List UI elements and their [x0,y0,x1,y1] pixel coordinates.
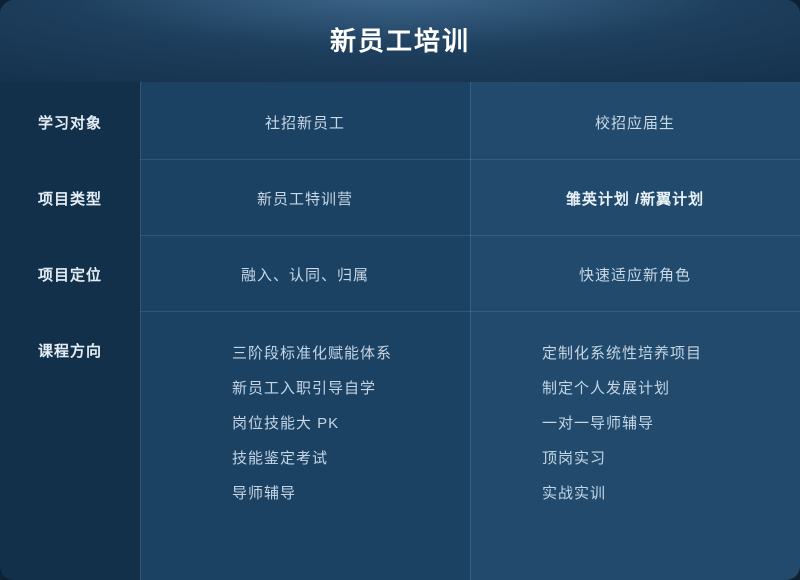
cell-positioning-social: 融入、认同、归属 [140,264,470,285]
training-overview-card: 新员工培训 学习对象 项目类型 项目定位 课程方向 社招新员工 新员工特训营 融… [0,0,800,580]
list-item: 技能鉴定考试 [232,441,392,476]
list-item: 定制化系统性培养项目 [542,336,702,371]
list-item: 岗位技能大 PK [232,406,392,441]
row-divider-3 [140,311,800,312]
page-title: 新员工培训 [0,0,800,82]
comparison-table: 学习对象 项目类型 项目定位 课程方向 社招新员工 新员工特训营 融入、认同、归… [0,82,800,580]
cell-positioning-campus: 快速适应新角色 [470,264,800,285]
course-list-social: 三阶段标准化赋能体系 新员工入职引导自学 岗位技能大 PK 技能鉴定考试 导师辅… [232,336,392,511]
row-label-program-type: 项目类型 [0,188,140,209]
row-divider-1 [140,159,800,160]
row-label-column [0,82,140,580]
list-item: 实战实训 [542,476,702,511]
course-list-campus: 定制化系统性培养项目 制定个人发展计划 一对一导师辅导 顶岗实习 实战实训 [542,336,702,511]
cell-audience-campus: 校招应届生 [470,112,800,133]
row-label-positioning: 项目定位 [0,264,140,285]
row-label-audience: 学习对象 [0,112,140,133]
row-label-course-direction: 课程方向 [0,340,140,361]
card-header: 新员工培训 [0,0,800,82]
list-item: 三阶段标准化赋能体系 [232,336,392,371]
list-item: 新员工入职引导自学 [232,371,392,406]
column-divider-left [140,82,141,580]
cell-audience-social: 社招新员工 [140,112,470,133]
row-divider-2 [140,235,800,236]
column-divider-middle [470,82,471,580]
list-item: 顶岗实习 [542,441,702,476]
list-item: 制定个人发展计划 [542,371,702,406]
cell-program-type-social: 新员工特训营 [140,188,470,209]
list-item: 一对一导师辅导 [542,406,702,441]
cell-program-type-campus: 雏英计划 /新翼计划 [470,188,800,209]
list-item: 导师辅导 [232,476,392,511]
